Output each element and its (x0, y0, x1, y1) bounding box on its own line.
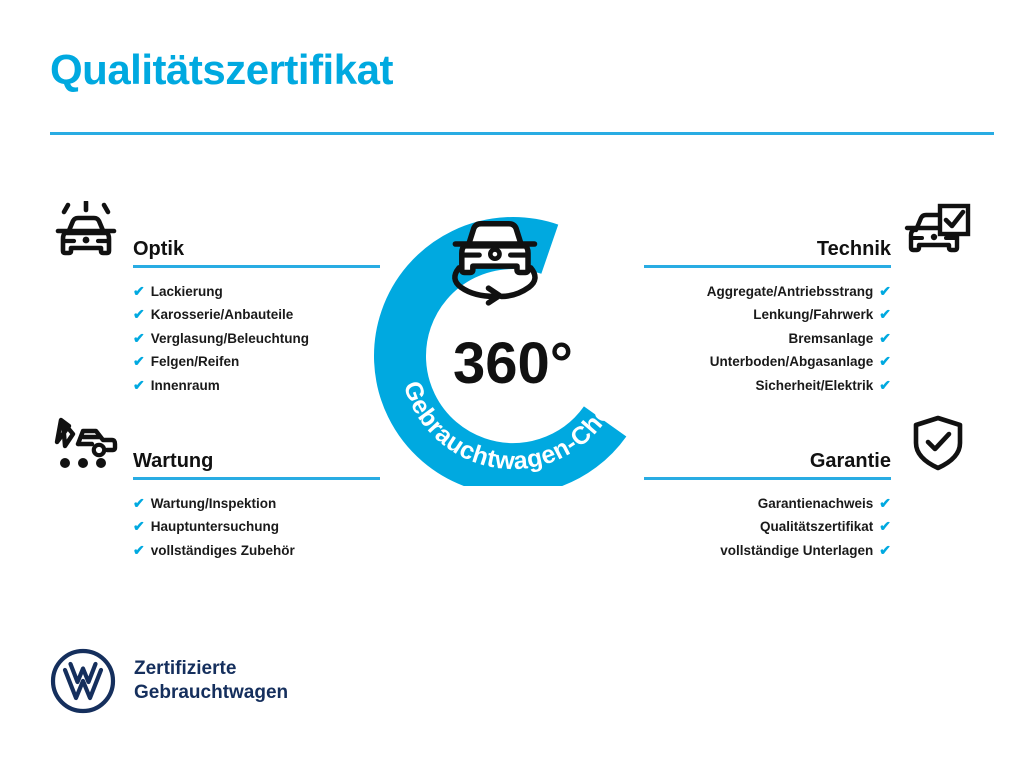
list-item: ✔ Innenraum (50, 374, 380, 397)
vw-logo-line2: Gebrauchtwagen (134, 681, 288, 705)
list-item-label: Qualitätszertifikat (760, 515, 873, 538)
section-optik-title-wrap: Optik (133, 238, 380, 268)
certificate-page: Qualitätszertifikat (0, 0, 1024, 768)
section-technik-header: Technik (644, 200, 974, 268)
360-check-badge: 360° Gebrauchtwagen-Check (372, 196, 654, 486)
check-icon: ✔ (879, 307, 891, 321)
list-item-label: Garantienachweis (758, 492, 874, 515)
section-garantie: Garantie Garantienachweis ✔ Qualitätszer… (644, 412, 974, 562)
section-garantie-title-wrap: Garantie (644, 450, 891, 480)
section-wartung-header: Wartung (50, 412, 380, 480)
car-shine-icon (50, 200, 122, 262)
check-icon: ✔ (879, 543, 891, 557)
badge-center-text: 360° (453, 331, 573, 396)
section-optik-underline (133, 265, 380, 268)
list-item-label: Lackierung (151, 280, 223, 303)
check-icon: ✔ (879, 331, 891, 345)
check-icon: ✔ (879, 378, 891, 392)
section-wartung-title-wrap: Wartung (133, 450, 380, 480)
section-optik-list: ✔ Lackierung ✔ Karosserie/Anbauteile ✔ V… (50, 280, 380, 397)
list-item: ✔ Lackierung (50, 280, 380, 303)
list-item: ✔ Wartung/Inspektion (50, 492, 380, 515)
list-item-label: Sicherheit/Elektrik (755, 374, 873, 397)
list-item: Sicherheit/Elektrik ✔ (644, 374, 974, 397)
section-wartung-list: ✔ Wartung/Inspektion ✔ Hauptuntersuchung… (50, 492, 380, 562)
page-header: Qualitätszertifikat (50, 48, 994, 135)
check-icon: ✔ (133, 307, 145, 321)
page-title: Qualitätszertifikat (50, 48, 994, 92)
list-item: vollständige Unterlagen ✔ (644, 539, 974, 562)
check-icon: ✔ (133, 354, 145, 368)
section-wartung-title: Wartung (133, 450, 380, 477)
section-technik-list: Aggregate/Antriebsstrang ✔ Lenkung/Fahrw… (644, 280, 974, 397)
list-item: Lenkung/Fahrwerk ✔ (644, 303, 974, 326)
list-item-label: Aggregate/Antriebsstrang (707, 280, 874, 303)
check-icon: ✔ (879, 354, 891, 368)
vw-logo-line1: Zertifizierte (134, 657, 288, 681)
list-item: Garantienachweis ✔ (644, 492, 974, 515)
list-item-label: Karosserie/Anbauteile (151, 303, 294, 326)
list-item: ✔ Verglasung/Beleuchtung (50, 327, 380, 350)
list-item: Unterboden/Abgasanlage ✔ (644, 350, 974, 373)
list-item-label: Wartung/Inspektion (151, 492, 277, 515)
list-item: ✔ vollständiges Zubehör (50, 539, 380, 562)
section-garantie-header: Garantie (644, 412, 974, 480)
list-item: Qualitätszertifikat ✔ (644, 515, 974, 538)
list-item-label: Hauptuntersuchung (151, 515, 279, 538)
check-icon: ✔ (879, 519, 891, 533)
check-icon: ✔ (133, 378, 145, 392)
list-item-label: Bremsanlage (788, 327, 873, 350)
list-item-label: Felgen/Reifen (151, 350, 240, 373)
section-wartung: Wartung ✔ Wartung/Inspektion ✔ Hauptunte… (50, 412, 380, 562)
list-item-label: Verglasung/Beleuchtung (151, 327, 309, 350)
section-garantie-list: Garantienachweis ✔ Qualitätszertifikat ✔… (644, 492, 974, 562)
service-book-car-icon (50, 412, 122, 474)
vw-logo-mark (50, 648, 116, 714)
check-icon: ✔ (133, 519, 145, 533)
check-icon: ✔ (133, 331, 145, 345)
list-item-label: Innenraum (151, 374, 220, 397)
section-garantie-title: Garantie (644, 450, 891, 477)
list-item: ✔ Karosserie/Anbauteile (50, 303, 380, 326)
check-icon: ✔ (133, 496, 145, 510)
header-divider (50, 132, 994, 135)
section-garantie-underline (644, 477, 891, 480)
section-technik-title-wrap: Technik (644, 238, 891, 268)
vw-logo: Zertifizierte Gebrauchtwagen (50, 648, 288, 714)
check-icon: ✔ (133, 284, 145, 298)
shield-check-icon (902, 412, 974, 474)
list-item-label: Lenkung/Fahrwerk (753, 303, 873, 326)
check-icon: ✔ (879, 496, 891, 510)
list-item-label: vollständige Unterlagen (720, 539, 873, 562)
vw-logo-text: Zertifizierte Gebrauchtwagen (134, 657, 288, 706)
list-item: ✔ Hauptuntersuchung (50, 515, 380, 538)
section-wartung-underline (133, 477, 380, 480)
section-technik-underline (644, 265, 891, 268)
list-item-label: vollständiges Zubehör (151, 539, 295, 562)
car-checkbox-icon (902, 200, 974, 262)
list-item: ✔ Felgen/Reifen (50, 350, 380, 373)
section-optik-header: Optik (50, 200, 380, 268)
check-icon: ✔ (133, 543, 145, 557)
list-item-label: Unterboden/Abgasanlage (710, 350, 874, 373)
check-icon: ✔ (879, 284, 891, 298)
section-technik: Technik Aggregate/Antriebsstrang ✔ Lenku… (644, 200, 974, 397)
list-item: Aggregate/Antriebsstrang ✔ (644, 280, 974, 303)
list-item: Bremsanlage ✔ (644, 327, 974, 350)
section-optik: Optik ✔ Lackierung ✔ Karosserie/Anbautei… (50, 200, 380, 397)
section-technik-title: Technik (644, 238, 891, 265)
section-optik-title: Optik (133, 238, 380, 265)
